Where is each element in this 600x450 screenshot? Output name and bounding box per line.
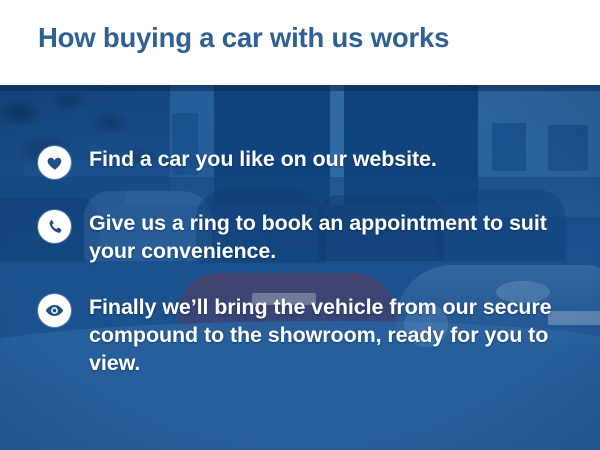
step-item-find-a-car: Find a car you like on our website. — [38, 145, 437, 179]
eye-icon — [38, 294, 71, 327]
step-text: Finally we’ll bring the vehicle from our… — [89, 293, 559, 377]
heart-icon — [38, 146, 71, 179]
step-item-bring-the-vehicle: Finally we’ll bring the vehicle from our… — [38, 293, 559, 377]
step-item-give-us-a-ring: Give us a ring to book an appointment to… — [38, 209, 559, 265]
phone-icon — [38, 210, 71, 243]
step-text: Find a car you like on our website. — [89, 145, 437, 173]
background-photo: Find a car you like on our website. Give… — [0, 85, 600, 450]
page-title: How buying a car with us works — [38, 22, 449, 54]
steps-list: Find a car you like on our website. Give… — [0, 85, 600, 450]
header-band: How buying a car with us works — [0, 0, 600, 85]
step-text: Give us a ring to book an appointment to… — [89, 209, 559, 265]
how-it-works-banner: How buying a car with us works — [0, 0, 600, 450]
